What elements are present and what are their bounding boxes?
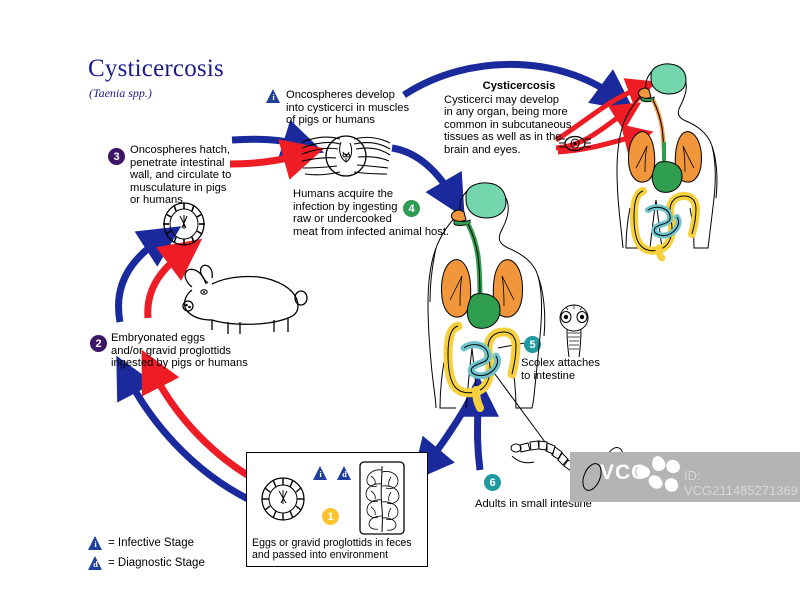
watermark-id: ID: VCG211485271369 bbox=[684, 468, 800, 498]
mouth-organ-right bbox=[638, 88, 651, 98]
watermark-petal bbox=[650, 454, 667, 473]
stomach-organ-right bbox=[652, 162, 682, 193]
cysticercosis-callout-heading: Cysticercosis bbox=[444, 80, 594, 93]
oncosphere-egg-illustration bbox=[160, 200, 208, 248]
step-3-text: Oncospheres hatch, penetrate intestinal … bbox=[130, 144, 250, 207]
infective-stage-icon: i bbox=[266, 89, 281, 103]
watermark-proglottid-outline bbox=[576, 456, 610, 498]
arrow-blue-human-to-feces bbox=[428, 400, 470, 462]
watermark-petal bbox=[664, 457, 683, 475]
diagnostic-stage-icon-box: d bbox=[337, 466, 352, 480]
arrow-blue-feces-to-eggs bbox=[128, 378, 250, 500]
legend-label-diagnostic: = Diagnostic Stage bbox=[108, 557, 205, 569]
feces-box-caption: Eggs or gravid proglottids in feces and … bbox=[252, 537, 428, 561]
legend-label-infective: = Infective Stage bbox=[108, 537, 194, 549]
step-6-badge: 6 bbox=[484, 474, 501, 491]
stomach-organ bbox=[467, 294, 500, 329]
legend-item-infective: i = Infective Stage bbox=[88, 536, 205, 550]
brain-organ-right bbox=[651, 64, 686, 94]
legend: i = Infective Stage d = Diagnostic Stage bbox=[88, 536, 205, 570]
watermark-petal bbox=[662, 476, 680, 495]
step-2-badge: 2 bbox=[90, 335, 107, 352]
infective-stage-icon-box: i bbox=[313, 466, 328, 480]
human-figure-center bbox=[418, 176, 552, 408]
step-1-badge: 1 bbox=[322, 508, 339, 525]
cysticercus-in-muscle-illustration bbox=[300, 128, 392, 186]
brain-organ bbox=[466, 183, 506, 218]
infective-stage-icon-legend: i bbox=[88, 536, 103, 550]
legend-item-diagnostic: d = Diagnostic Stage bbox=[88, 556, 205, 570]
oncospheres-develop-group: i Oncospheres develop into cysticerci in… bbox=[266, 89, 416, 127]
rectum-organ bbox=[476, 390, 480, 408]
step-3-badge: 3 bbox=[108, 148, 125, 165]
scolex-illustration bbox=[552, 302, 596, 358]
rectum-organ-right bbox=[659, 248, 662, 258]
feces-box-stage-markers: i d bbox=[313, 466, 352, 480]
subcutaneous-cysticercus-illustration bbox=[558, 134, 592, 154]
oncospheres-develop-text: Oncospheres develop into cysticerci in m… bbox=[286, 89, 416, 127]
gravid-proglottid-illustration bbox=[358, 460, 406, 536]
taenia-egg-illustration bbox=[260, 476, 306, 522]
pig-illustration bbox=[168, 250, 308, 342]
diagnostic-stage-icon-legend: d bbox=[88, 556, 103, 570]
human-figure-right bbox=[606, 58, 730, 258]
